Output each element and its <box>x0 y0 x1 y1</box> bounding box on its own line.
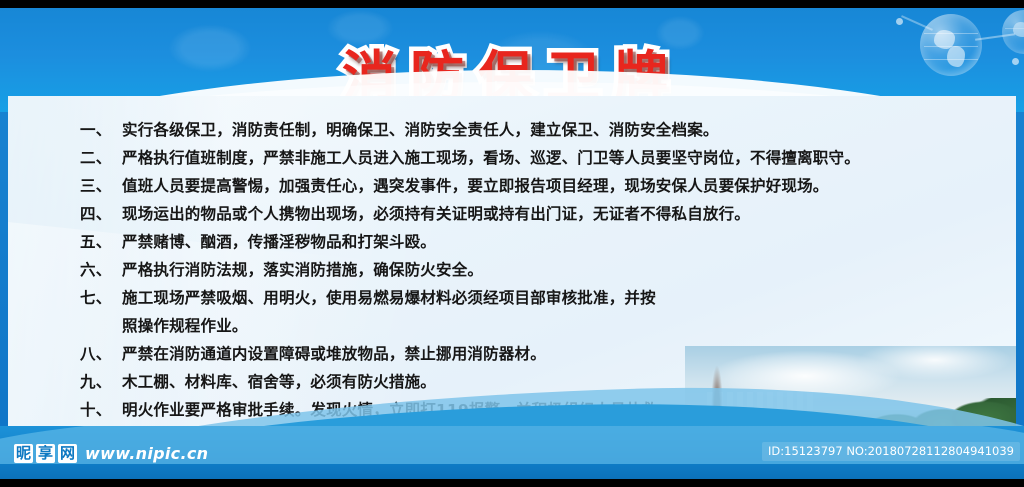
rule-text: 照操作规程作业。 <box>122 312 700 340</box>
watermark-url: www.nipic.cn <box>85 444 208 463</box>
rule-item: 五、严禁赌博、酗酒，传播淫秽物品和打架斗殴。 <box>80 228 700 256</box>
rule-item: 八、严禁在消防通道内设置障碍或堆放物品，禁止挪用消防器材。 <box>80 340 700 368</box>
image-id-tag: ID:15123797 NO:20180728112804941039 <box>762 442 1020 461</box>
rule-number: 三、 <box>80 172 122 200</box>
rule-text: 严禁在消防通道内设置障碍或堆放物品，禁止挪用消防器材。 <box>122 340 700 368</box>
letterbox-top <box>0 0 1024 8</box>
rule-number: 六、 <box>80 256 122 284</box>
rule-text: 施工现场严禁吸烟、用明火，使用易燃易爆材料必须经项目部审核批准，并按 <box>122 284 700 312</box>
rule-number: 二、 <box>80 144 122 172</box>
rules-list: 一、实行各级保卫，消防责任制，明确保卫、消防安全责任人，建立保卫、消防安全档案。… <box>80 116 700 424</box>
content-panel: 一、实行各级保卫，消防责任制，明确保卫、消防安全责任人，建立保卫、消防安全档案。… <box>8 96 1016 438</box>
rule-number: 四、 <box>80 200 122 228</box>
rule-item: 照操作规程作业。 <box>80 312 700 340</box>
rule-text: 值班人员要提高警惕，加强责任心，遇突发事件，要立即报告项目经理，现场安保人员要保… <box>122 172 829 200</box>
rule-text: 严格执行消防法规，落实消防措施，确保防火安全。 <box>122 256 700 284</box>
watermark: 昵享网 www.nipic.cn <box>14 444 208 463</box>
rule-text: 实行各级保卫，消防责任制，明确保卫、消防安全责任人，建立保卫、消防安全档案。 <box>122 116 719 144</box>
rule-item: 六、严格执行消防法规，落实消防措施，确保防火安全。 <box>80 256 700 284</box>
rule-item: 三、值班人员要提高警惕，加强责任心，遇突发事件，要立即报告项目经理，现场安保人员… <box>80 172 700 200</box>
rule-number: 九、 <box>80 368 122 396</box>
rule-item: 七、施工现场严禁吸烟、用明火，使用易燃易爆材料必须经项目部审核批准，并按 <box>80 284 700 312</box>
rule-text: 严格执行值班制度，严禁非施工人员进入施工现场，看场、巡逻、门卫等人员要坚守岗位，… <box>122 144 860 172</box>
letterbox-bottom <box>0 479 1024 487</box>
watermark-logo: 昵享网 <box>14 444 77 463</box>
watermark-logo-char: 昵 <box>14 444 33 463</box>
rule-item: 一、实行各级保卫，消防责任制，明确保卫、消防安全责任人，建立保卫、消防安全档案。 <box>80 116 700 144</box>
rule-number: 一、 <box>80 116 122 144</box>
rule-number: 七、 <box>80 284 122 312</box>
watermark-logo-char: 享 <box>36 444 55 463</box>
sign-board: 消防保卫牌 消防保卫牌 一、实行各级保卫，消防责任制，明确保卫、消防安全责任人，… <box>0 8 1024 479</box>
rule-text: 严禁赌博、酗酒，传播淫秽物品和打架斗殴。 <box>122 228 700 256</box>
rule-text: 现场运出的物品或个人携物出现场，必须持有关证明或持有出门证，无证者不得私自放行。 <box>122 200 750 228</box>
watermark-logo-char: 网 <box>58 444 77 463</box>
rule-number: 八、 <box>80 340 122 368</box>
footer-band: 昵享网 www.nipic.cn ID:15123797 NO:20180728… <box>0 426 1024 479</box>
network-node-dot <box>896 18 903 25</box>
rule-item: 二、严格执行值班制度，严禁非施工人员进入施工现场，看场、巡逻、门卫等人员要坚守岗… <box>80 144 700 172</box>
rule-item: 四、现场运出的物品或个人携物出现场，必须持有关证明或持有出门证，无证者不得私自放… <box>80 200 700 228</box>
poster-root: 消防保卫牌 消防保卫牌 一、实行各级保卫，消防责任制，明确保卫、消防安全责任人，… <box>0 0 1024 487</box>
rule-number: 五、 <box>80 228 122 256</box>
rule-number: 十、 <box>80 396 122 424</box>
